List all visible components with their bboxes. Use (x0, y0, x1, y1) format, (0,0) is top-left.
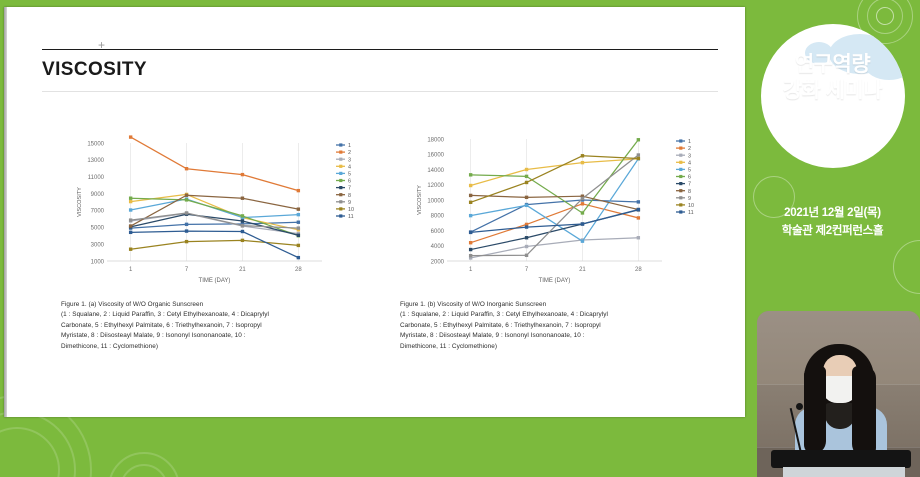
slide-canvas: + VISCOSITY 1000300050007000900011000130… (4, 7, 745, 417)
series-marker-11 (525, 225, 528, 228)
legend-marker-4 (679, 161, 682, 164)
series-marker-11 (241, 230, 244, 233)
legend-marker-4 (339, 165, 342, 168)
y-axis-title: VISCOSITY (77, 187, 83, 217)
series-marker-9 (637, 153, 640, 156)
y-axis-tick-label: 4000 (431, 244, 445, 250)
series-marker-7 (469, 248, 472, 251)
series-line-10 (131, 240, 299, 249)
series-marker-5 (297, 213, 300, 216)
legend-label-1: 1 (688, 139, 691, 145)
series-marker-9 (129, 218, 132, 221)
series-marker-9 (469, 254, 472, 257)
series-marker-6 (129, 197, 132, 200)
y-axis-tick-label: 15000 (87, 141, 104, 147)
x-axis-tick-label: 21 (579, 267, 586, 273)
y-axis-tick-label: 13000 (87, 158, 104, 164)
series-marker-4 (581, 161, 584, 164)
x-axis-tick-label: 1 (469, 267, 473, 273)
series-marker-8 (129, 224, 132, 227)
decor-ring (108, 452, 180, 477)
legend-marker-11 (679, 210, 682, 213)
legend-marker-3 (339, 158, 342, 161)
series-marker-11 (581, 222, 584, 225)
figure-caption-a: Figure 1. (a) Viscosity of W/O Organic S… (61, 300, 351, 352)
y-axis-tick-label: 12000 (427, 183, 444, 189)
y-axis-tick-label: 1000 (91, 259, 105, 265)
legend-marker-1 (339, 143, 342, 146)
legend-label-11: 11 (688, 210, 694, 216)
page-title: VISCOSITY (42, 59, 147, 81)
legend-label-4: 4 (348, 164, 351, 170)
series-marker-11 (185, 229, 188, 232)
legend-label-8: 8 (348, 193, 351, 199)
x-axis-title: TIME (DAY) (199, 278, 231, 284)
series-marker-10 (581, 154, 584, 157)
series-marker-5 (581, 239, 584, 242)
legend-label-10: 10 (348, 207, 354, 213)
series-marker-5 (469, 214, 472, 217)
chart-a-svg: 1000300050007000900011000130001500017212… (59, 135, 379, 285)
legend-marker-1 (679, 139, 682, 142)
series-line-2 (131, 137, 299, 191)
decor-ring (0, 427, 60, 477)
y-axis-tick-label: 16000 (427, 153, 444, 159)
legend-marker-3 (679, 154, 682, 157)
legend-marker-7 (339, 186, 342, 189)
legend-label-4: 4 (688, 160, 691, 166)
series-marker-8 (469, 194, 472, 197)
x-axis-tick-label: 7 (185, 267, 189, 273)
x-axis-tick-label: 7 (525, 267, 529, 273)
series-marker-2 (297, 189, 300, 192)
x-axis-tick-label: 28 (295, 267, 302, 273)
poster-title: 연구역량 강화 세미나 (745, 52, 920, 103)
series-marker-6 (581, 211, 584, 214)
series-marker-10 (185, 240, 188, 243)
legend-marker-9 (679, 196, 682, 199)
series-marker-2 (129, 135, 132, 138)
decor-ring (893, 240, 920, 294)
legend-marker-11 (339, 214, 342, 217)
speaker-collar (825, 403, 855, 429)
title-rule-bottom (42, 91, 718, 92)
legend-label-9: 9 (688, 196, 691, 202)
series-marker-1 (637, 200, 640, 203)
series-marker-4 (469, 184, 472, 187)
series-marker-10 (241, 239, 244, 242)
y-axis-tick-label: 7000 (91, 209, 105, 215)
legend-marker-5 (679, 168, 682, 171)
speaker-video-thumbnail[interactable] (757, 311, 920, 477)
series-marker-3 (525, 245, 528, 248)
y-axis-title: VISCOSITY (417, 185, 423, 215)
series-marker-3 (637, 236, 640, 239)
series-marker-8 (185, 194, 188, 197)
x-axis-tick-label: 28 (635, 267, 642, 273)
speaker-hair-right (852, 366, 876, 458)
legend-marker-10 (339, 207, 342, 210)
y-axis-tick-label: 9000 (91, 192, 105, 198)
series-marker-9 (297, 226, 300, 229)
decor-ring (0, 411, 76, 477)
legend-label-2: 2 (348, 150, 351, 156)
series-marker-2 (185, 167, 188, 170)
series-marker-11 (297, 256, 300, 259)
series-marker-6 (525, 175, 528, 178)
legend-marker-8 (679, 189, 682, 192)
legend-label-8: 8 (688, 189, 691, 195)
series-marker-6 (241, 214, 244, 217)
legend-label-3: 3 (348, 157, 351, 163)
podium (771, 450, 911, 468)
legend-marker-8 (339, 193, 342, 196)
series-marker-4 (525, 168, 528, 171)
y-axis-tick-label: 8000 (431, 214, 445, 220)
legend-marker-7 (679, 182, 682, 185)
legend-label-10: 10 (688, 203, 694, 209)
title-rule-top (42, 49, 718, 50)
legend-marker-6 (679, 175, 682, 178)
legend-marker-5 (339, 172, 342, 175)
legend-label-6: 6 (348, 179, 351, 185)
decor-ring (876, 7, 894, 25)
x-axis-tick-label: 21 (239, 267, 246, 273)
series-marker-2 (469, 241, 472, 244)
series-marker-10 (129, 248, 132, 251)
legend-label-2: 2 (688, 146, 691, 152)
y-axis-tick-label: 14000 (427, 168, 444, 174)
legend-label-3: 3 (688, 153, 691, 159)
series-marker-9 (581, 197, 584, 200)
series-marker-5 (525, 204, 528, 207)
legend-marker-2 (679, 147, 682, 150)
legend-marker-6 (339, 179, 342, 182)
legend-marker-9 (339, 200, 342, 203)
series-marker-9 (241, 224, 244, 227)
series-marker-8 (241, 197, 244, 200)
series-marker-6 (637, 138, 640, 141)
y-axis-tick-label: 5000 (91, 226, 105, 232)
series-line-9 (471, 155, 639, 256)
y-axis-tick-label: 11000 (88, 175, 105, 181)
legend-marker-10 (679, 203, 682, 206)
y-axis-tick-label: 6000 (431, 229, 445, 235)
series-marker-8 (297, 207, 300, 210)
series-marker-6 (185, 198, 188, 201)
legend-label-7: 7 (348, 186, 351, 192)
series-marker-9 (185, 211, 188, 214)
series-line-5 (471, 159, 639, 241)
chart-organic-sunscreen: 1000300050007000900011000130001500017212… (59, 135, 379, 285)
podium-base (783, 467, 905, 477)
series-marker-6 (469, 173, 472, 176)
speaker-hair-left (804, 366, 826, 454)
series-marker-4 (129, 200, 132, 203)
y-axis-tick-label: 18000 (427, 137, 444, 143)
poster-date-location: 2021년 12월 2일(목) 학술관 제2컨퍼런스홀 (745, 204, 920, 241)
series-marker-5 (129, 208, 132, 211)
series-marker-11 (129, 231, 132, 234)
series-marker-2 (637, 216, 640, 219)
microphone-head (796, 403, 803, 410)
y-axis-tick-label: 3000 (91, 242, 105, 248)
series-marker-8 (525, 196, 528, 199)
legend-label-11: 11 (348, 214, 354, 220)
series-marker-7 (525, 236, 528, 239)
figure-caption-b: Figure 1. (b) Viscosity of W/O Inorganic… (400, 300, 690, 352)
legend-label-7: 7 (688, 182, 691, 188)
legend-label-5: 5 (688, 168, 691, 174)
series-line-11 (131, 231, 299, 258)
chart-b-svg: 2000400060008000100001200014000160001800… (399, 131, 719, 286)
legend-label-5: 5 (348, 172, 351, 178)
legend-label-9: 9 (348, 200, 351, 206)
legend-label-6: 6 (688, 175, 691, 181)
legend-marker-2 (339, 151, 342, 154)
series-marker-11 (469, 231, 472, 234)
presentation-window: + VISCOSITY 1000300050007000900011000130… (0, 0, 920, 477)
decor-ring (120, 464, 168, 477)
legend-label-1: 1 (348, 143, 351, 149)
series-marker-10 (525, 181, 528, 184)
series-marker-9 (525, 254, 528, 257)
series-marker-11 (637, 208, 640, 211)
series-marker-1 (297, 221, 300, 224)
y-axis-tick-label: 10000 (427, 198, 444, 204)
series-marker-1 (185, 223, 188, 226)
series-marker-10 (637, 157, 640, 160)
series-marker-7 (241, 219, 244, 222)
chart-inorganic-sunscreen: 2000400060008000100001200014000160001800… (399, 131, 719, 286)
series-marker-10 (469, 201, 472, 204)
series-marker-7 (297, 234, 300, 237)
x-axis-title: TIME (DAY) (539, 278, 571, 284)
series-marker-2 (581, 202, 584, 205)
y-axis-tick-label: 2000 (431, 259, 445, 265)
series-marker-10 (297, 244, 300, 247)
series-marker-2 (241, 173, 244, 176)
series-line-11 (471, 210, 639, 233)
x-axis-tick-label: 1 (129, 267, 133, 273)
